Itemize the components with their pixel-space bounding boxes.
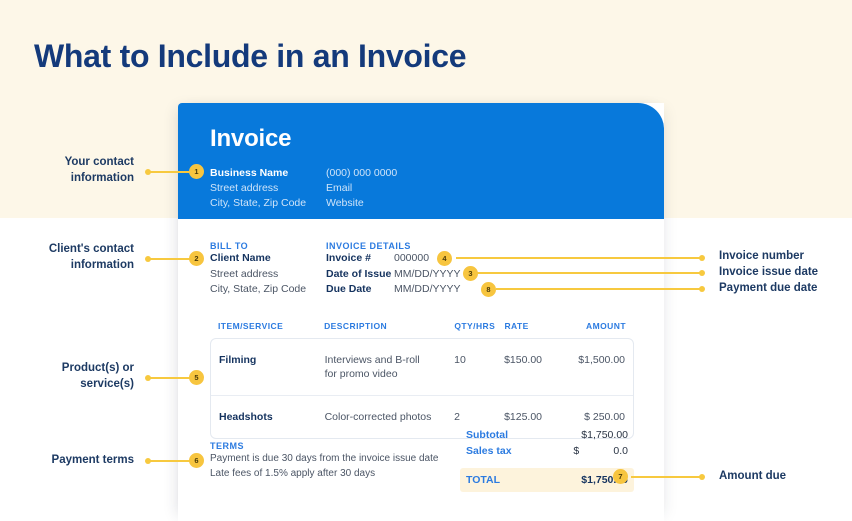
line-items-table: ITEM/SERVICE DESCRIPTION QTY/HRS RATE AM… <box>210 321 634 439</box>
line-item-qty: 2 <box>454 410 504 424</box>
connector-dot-4 <box>699 255 705 261</box>
annotation-label-products-or-services: Product(s) or service(s) <box>0 360 134 392</box>
connector-dot-3 <box>699 270 705 276</box>
due-date-value: MM/DD/YYYY <box>394 282 461 298</box>
invoice-heading: Invoice <box>210 125 291 153</box>
annotation-label-clients-contact-information: Client's contact information <box>0 241 134 273</box>
connector-line-3 <box>472 272 701 274</box>
invoice-details-block: INVOICE DETAILS Invoice # 000000 Date of… <box>326 241 461 298</box>
annotation-label-line-1: Client's contact <box>0 241 134 257</box>
annotation-label-amount-due: Amount due <box>719 468 786 484</box>
line-item-name: Headshots <box>219 410 325 424</box>
line-item-amount: $1,500.00 <box>560 353 625 367</box>
annotation-marker-6: 6 <box>189 453 204 468</box>
annotation-label-invoice-issue-date: Invoice issue date <box>719 264 818 280</box>
connector-line-4 <box>456 257 701 259</box>
annotation-marker-4: 4 <box>437 251 452 266</box>
total-row: TOTAL $1,750.00 <box>460 468 634 492</box>
annotation-label-line-2: information <box>0 257 134 273</box>
column-header-rate: RATE <box>504 321 560 331</box>
due-date-row: Due Date MM/DD/YYYY <box>326 282 461 298</box>
client-city: City, State, Zip Code <box>210 282 306 298</box>
column-header-item-service: ITEM/SERVICE <box>218 321 324 331</box>
line-item-description-line-2: for promo video <box>325 367 455 381</box>
client-name: Client Name <box>210 251 306 267</box>
total-label: TOTAL <box>466 474 500 486</box>
line-item-description-line-1: Interviews and B-roll <box>325 353 455 367</box>
annotation-marker-3: 3 <box>463 266 478 281</box>
invoice-number-value: 000000 <box>394 251 429 267</box>
table-row: Filming Interviews and B-roll for promo … <box>211 339 633 395</box>
invoice-card: Invoice Business Name Street address Cit… <box>178 103 664 521</box>
annotation-marker-5: 5 <box>189 370 204 385</box>
business-city: City, State, Zip Code <box>210 196 306 211</box>
line-item-description: Color-corrected photos <box>325 410 455 424</box>
business-email: Email <box>326 181 397 196</box>
terms-block: TERMS Payment is due 30 days from the in… <box>210 441 460 481</box>
subtotal-row: Subtotal $1,750.00 <box>460 427 634 443</box>
business-street: Street address <box>210 181 306 196</box>
annotation-label-your-contact-information: Your contact information <box>0 154 134 186</box>
business-contact-block: Business Name Street address City, State… <box>210 166 306 211</box>
connector-dot-8 <box>699 286 705 292</box>
date-of-issue-value: MM/DD/YYYY <box>394 267 461 283</box>
column-header-qty-hrs: QTY/HRS <box>454 321 504 331</box>
bill-to-heading: BILL TO <box>210 241 306 251</box>
connector-dot-5 <box>145 375 151 381</box>
annotation-label-line-1: Product(s) or <box>0 360 134 376</box>
annotation-marker-7: 7 <box>613 469 628 484</box>
sales-tax-value: 0.0 <box>613 445 628 457</box>
annotation-label-payment-terms: Payment terms <box>0 452 134 468</box>
subtotal-label: Subtotal <box>466 427 508 443</box>
column-header-description: DESCRIPTION <box>324 321 454 331</box>
connector-dot-7 <box>699 474 705 480</box>
terms-line-1: Payment is due 30 days from the invoice … <box>210 451 460 466</box>
line-item-amount: $ 250.00 <box>560 410 625 424</box>
annotation-marker-1: 1 <box>189 164 204 179</box>
connector-line-7 <box>631 476 701 478</box>
business-name: Business Name <box>210 166 306 181</box>
invoice-number-label: Invoice # <box>326 251 394 267</box>
annotation-label-line-1: Your contact <box>0 154 134 170</box>
line-items-body: Filming Interviews and B-roll for promo … <box>210 338 634 439</box>
subtotal-value: $1,750.00 <box>581 427 628 443</box>
annotation-label-line-2: service(s) <box>0 376 134 392</box>
annotation-marker-8: 8 <box>481 282 496 297</box>
line-items-header-row: ITEM/SERVICE DESCRIPTION QTY/HRS RATE AM… <box>210 321 634 338</box>
invoice-details-heading: INVOICE DETAILS <box>326 241 461 251</box>
line-item-rate: $150.00 <box>504 353 560 367</box>
annotation-label-line-1: Payment terms <box>0 452 134 468</box>
page-root: What to Include in an Invoice Your conta… <box>0 0 852 521</box>
connector-line-8 <box>496 288 701 290</box>
bill-to-block: BILL TO Client Name Street address City,… <box>210 241 306 298</box>
connector-dot-2 <box>145 256 151 262</box>
business-contact-block-secondary: (000) 000 0000 Email Website <box>326 166 397 211</box>
sales-tax-value-group: $0.0 <box>573 443 628 459</box>
sales-tax-row: Sales tax $0.0 <box>460 443 634 459</box>
sales-tax-label: Sales tax <box>466 443 512 459</box>
totals-block: Subtotal $1,750.00 Sales tax $0.0 TOTAL … <box>460 427 634 492</box>
invoice-card-header: Invoice Business Name Street address Cit… <box>178 103 664 219</box>
annotation-label-line-2: information <box>0 170 134 186</box>
annotation-label-payment-due-date: Payment due date <box>719 280 817 296</box>
terms-line-2: Late fees of 1.5% apply after 30 days <box>210 466 460 481</box>
line-item-rate: $125.00 <box>504 410 560 424</box>
line-item-description-line-1: Color-corrected photos <box>325 410 455 424</box>
annotation-label-invoice-number: Invoice number <box>719 248 804 264</box>
due-date-label: Due Date <box>326 282 394 298</box>
business-phone: (000) 000 0000 <box>326 166 397 181</box>
business-website: Website <box>326 196 397 211</box>
sales-tax-currency: $ <box>573 443 613 459</box>
date-of-issue-row: Date of Issue MM/DD/YYYY <box>326 267 461 283</box>
line-item-qty: 10 <box>454 353 504 367</box>
date-of-issue-label: Date of Issue <box>326 267 394 283</box>
line-item-name: Filming <box>219 353 325 367</box>
connector-dot-1 <box>145 169 151 175</box>
client-street: Street address <box>210 267 306 283</box>
connector-dot-6 <box>145 458 151 464</box>
annotation-marker-2: 2 <box>189 251 204 266</box>
column-header-amount: AMOUNT <box>560 321 626 331</box>
page-title: What to Include in an Invoice <box>34 36 466 76</box>
terms-heading: TERMS <box>210 441 460 451</box>
line-item-description: Interviews and B-roll for promo video <box>325 353 455 381</box>
